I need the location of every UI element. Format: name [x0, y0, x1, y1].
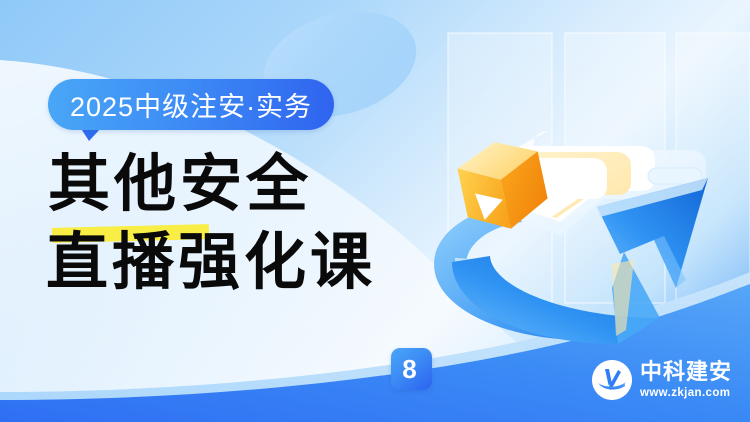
title-block: 其他安全 直播强化课 8 [46, 150, 466, 296]
logo-texts: 中科建安 www.zkjan.com [640, 361, 732, 400]
title-line-1: 其他安全 [48, 150, 466, 218]
course-tag-pill[interactable]: 2025中级注安·实务 [48, 79, 334, 130]
episode-number-text: 8 [402, 335, 420, 403]
logo-glyph-icon [592, 360, 632, 400]
course-banner: 2025中级注安·实务 其他安全 直播强化课 8 中科建安 www [0, 0, 750, 422]
brand-logo[interactable]: 中科建安 www.zkjan.com [592, 360, 732, 400]
logo-brand-name: 中科建安 [640, 361, 732, 385]
course-tag-label: 2025中级注安·实务 [70, 85, 312, 124]
title-line-1-text: 其他安全 [48, 147, 312, 220]
episode-number-badge: 8 [391, 348, 432, 390]
title-line-2-text: 直播强化课 [46, 225, 376, 298]
logo-mark-icon [592, 360, 632, 400]
title-line-2: 直播强化课 8 [46, 228, 466, 296]
logo-url: www.zkjan.com [640, 386, 732, 400]
